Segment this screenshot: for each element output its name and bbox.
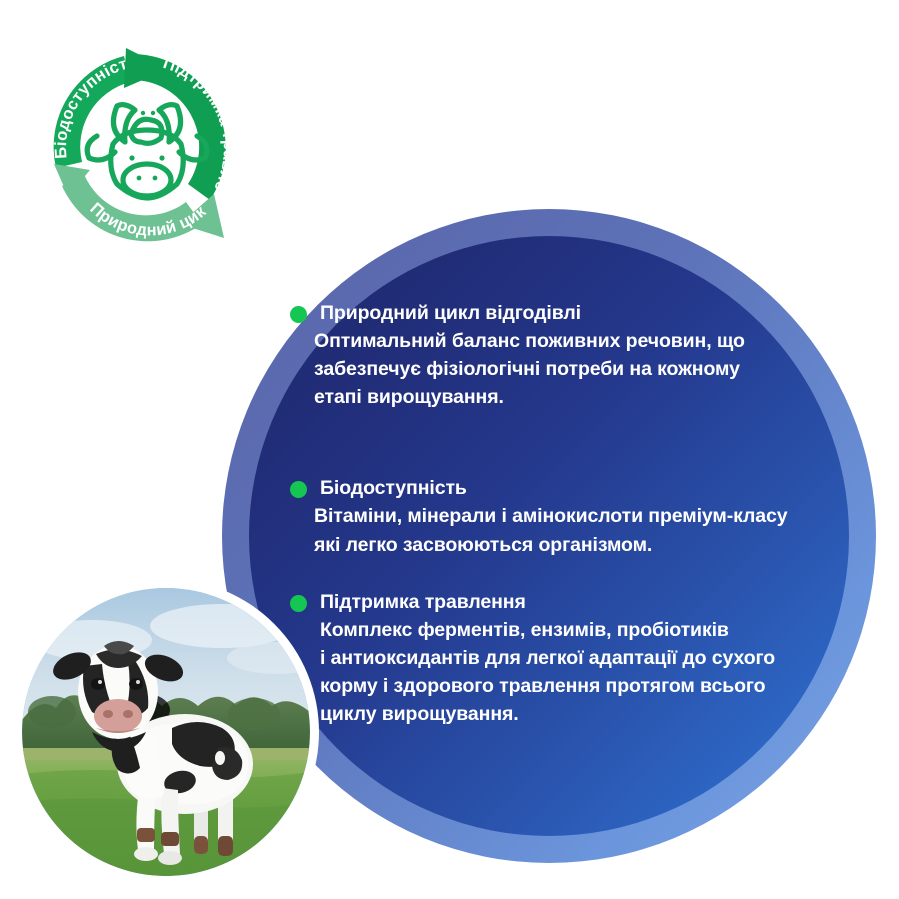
bullet-dot-icon (290, 306, 307, 323)
holstein-cow-photo (22, 588, 310, 876)
feature-line: Вітаміни, мінерали і амінокислоти преміу… (314, 502, 810, 530)
bullet-dot-icon (290, 481, 307, 498)
feature-item-digestion-support: Підтримка травлення Комплекс ферментів, … (290, 589, 810, 728)
feature-line: Комплекс ферментів, ензимів, пробіотиків (320, 616, 810, 644)
feature-title: Природний цикл відгодівлі (320, 300, 810, 326)
feature-description: Вітаміни, мінерали і амінокислоти преміу… (314, 502, 810, 558)
feature-description: Оптимальний баланс поживних речовин, що … (314, 327, 810, 411)
feature-line: які легко засвоюються організмом. (314, 531, 810, 559)
feature-line: Оптимальний баланс поживних речовин, що (314, 327, 810, 355)
feature-item-bioavailability: Біодоступність Вітаміни, мінерали і амін… (290, 475, 810, 558)
feature-line: етапі вирощування. (314, 383, 810, 411)
feature-title: Біодоступність (320, 475, 810, 501)
brand-cycle-logo: Біодоступність Підтримка травлення Приро… (38, 38, 256, 266)
feature-description: Комплекс ферментів, ензимів, пробіотиків… (320, 616, 810, 728)
feature-line: і антиоксидантів для легкої адаптації до… (320, 644, 810, 672)
feature-line: циклу вирощування. (320, 700, 810, 728)
feature-line: корму і здорового травлення протягом всь… (320, 672, 810, 700)
feature-title: Підтримка травлення (320, 589, 810, 615)
feature-line: забезпечує фізіологічні потреби на кожно… (314, 355, 810, 383)
feature-item-natural-cycle: Природний цикл відгодівлі Оптимальний ба… (290, 300, 810, 411)
feature-list: Природний цикл відгодівлі Оптимальний ба… (290, 300, 810, 728)
bullet-dot-icon (290, 595, 307, 612)
